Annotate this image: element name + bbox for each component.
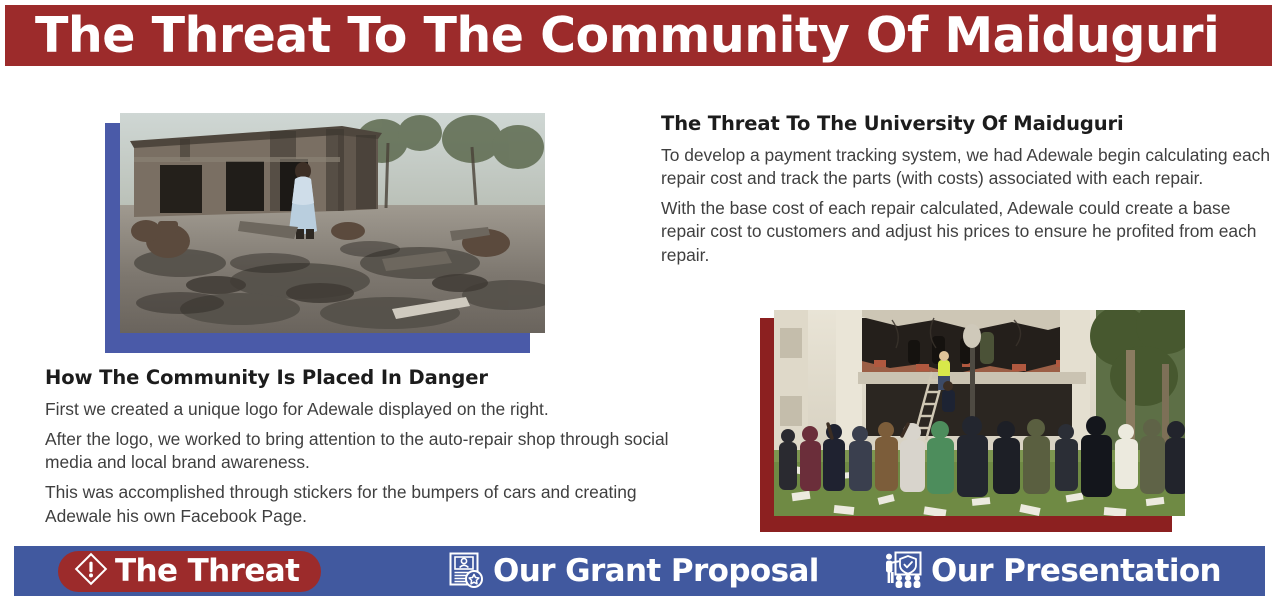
page-title: The Threat To The Community Of Maiduguri [35,11,1219,60]
nav-label-our-presentation: Our Presentation [931,556,1221,587]
community-danger-paragraph-3: This was accomplished through stickers f… [45,481,670,527]
community-danger-heading: How The Community Is Placed In Danger [45,366,670,389]
university-threat-heading: The Threat To The University Of Maidugur… [661,112,1277,135]
nav-item-our-presentation[interactable]: Our Presentation [882,548,1221,594]
slide-title-bar: The Threat To The Community Of Maiduguri [5,5,1272,66]
university-threat-paragraph-2: With the base cost of each repair calcul… [661,197,1277,266]
nav-label-our-grant-proposal: Our Grant Proposal [493,556,819,587]
nav-label-the-threat: The Threat [115,556,299,587]
right-photo-block [760,310,1185,532]
presentation-icon [882,549,924,594]
left-photo-block [105,113,545,353]
burnt-village-photo [120,113,545,333]
university-threat-paragraph-1: To develop a payment tracking system, we… [661,144,1277,190]
bombed-building-crowd-scene [774,310,1185,516]
grant-document-icon [446,549,486,594]
burnt-village-scene [120,113,545,333]
nav-item-our-grant-proposal[interactable]: Our Grant Proposal [446,548,819,594]
warning-diamond-icon [74,552,108,591]
nav-item-the-threat[interactable]: The Threat [58,551,321,592]
community-danger-paragraph-2: After the logo, we worked to bring atten… [45,428,670,474]
community-danger-paragraph-1: First we created a unique logo for Adewa… [45,398,670,421]
bombed-building-crowd-photo [774,310,1185,516]
university-threat-text-block: The Threat To The University Of Maidugur… [661,112,1277,267]
community-danger-text-block: How The Community Is Placed In Danger Fi… [45,366,670,528]
